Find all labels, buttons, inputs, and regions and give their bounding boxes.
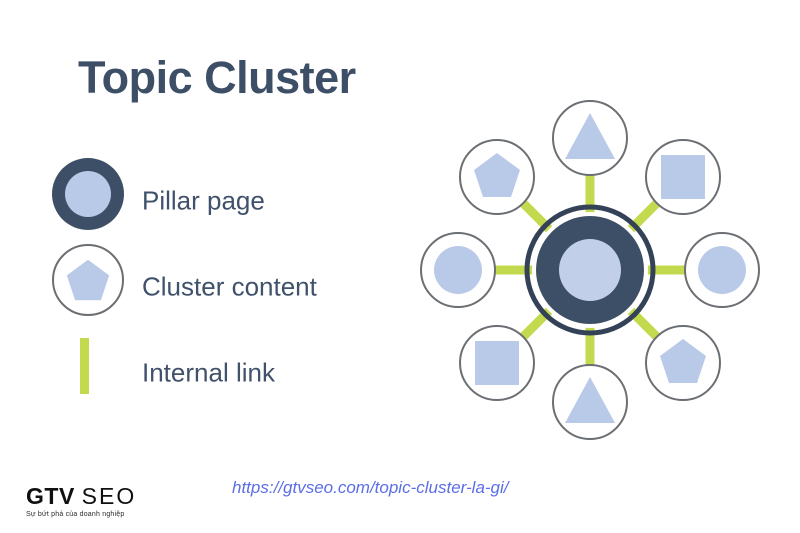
hub-inner-circle xyxy=(559,239,621,301)
pillar-page-hub xyxy=(527,207,653,333)
cluster-node-bottom-right xyxy=(646,326,720,400)
legend-item-pillar-page: Pillar page xyxy=(52,158,412,244)
cluster-node-top-right xyxy=(646,140,720,214)
legend: Pillar page Cluster content Internal lin… xyxy=(52,158,412,416)
circle-icon xyxy=(698,246,746,294)
circle-icon xyxy=(434,246,482,294)
logo-wordmark: GTV SEO xyxy=(26,484,136,509)
pillar-inner-circle-icon xyxy=(65,171,111,217)
cluster-node-bottom-left xyxy=(460,326,534,400)
legend-label-internal-link: Internal link xyxy=(142,358,275,389)
source-url[interactable]: https://gtvseo.com/topic-cluster-la-gi/ xyxy=(232,478,509,498)
green-bar-icon xyxy=(52,330,124,402)
logo-brand-primary: GTV xyxy=(26,483,75,509)
logo-tagline: Sự bứt phá của doanh nghiệp xyxy=(26,511,136,518)
pillar-circle-icon xyxy=(52,158,124,230)
cluster-node-bottom xyxy=(553,365,627,439)
legend-item-internal-link: Internal link xyxy=(52,330,412,416)
cluster-node-top-left xyxy=(460,140,534,214)
legend-label-cluster-content: Cluster content xyxy=(142,272,317,303)
cluster-node-right xyxy=(685,233,759,307)
internal-link-bar-icon xyxy=(80,338,89,394)
cluster-node-left xyxy=(421,233,495,307)
topic-cluster-diagram xyxy=(400,80,780,460)
pentagon-node-icon xyxy=(52,244,124,316)
gtv-seo-logo: GTV SEO Sự bứt phá của doanh nghiệp xyxy=(26,484,136,518)
pentagon-icon xyxy=(65,257,111,303)
page-title: Topic Cluster xyxy=(78,52,356,104)
logo-brand-secondary: SEO xyxy=(82,483,137,509)
cluster-node-top xyxy=(553,101,627,175)
slide-canvas: Topic Cluster Pillar page Cluster conten… xyxy=(0,0,800,533)
legend-label-pillar-page: Pillar page xyxy=(142,186,265,217)
square-icon xyxy=(661,155,705,199)
legend-item-cluster-content: Cluster content xyxy=(52,244,412,330)
square-icon xyxy=(475,341,519,385)
